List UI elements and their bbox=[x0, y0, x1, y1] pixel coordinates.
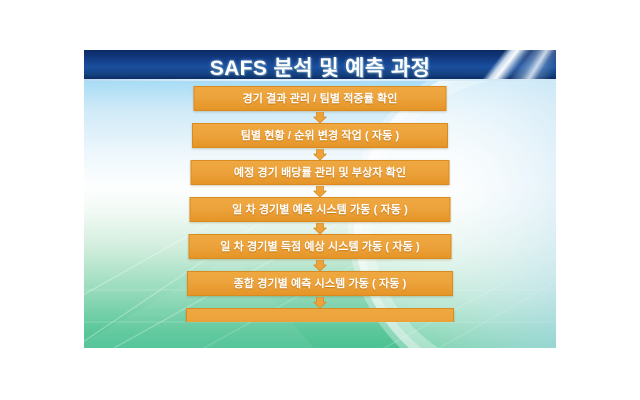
flow-step-2: 팀별 현황 / 순위 변경 작업 ( 자동 ) bbox=[84, 123, 556, 160]
flow-box[interactable]: 경기 결과 관리 / 팀별 적중률 확인 bbox=[194, 86, 447, 111]
flow-step-7 bbox=[84, 308, 556, 322]
presentation-slide: SAFS 분석 및 예측 과정 경기 결과 관리 / 팀별 적중률 확인 팀별 … bbox=[84, 50, 556, 348]
down-arrow-icon bbox=[314, 186, 327, 197]
flow-box[interactable]: 예정 경기 배당률 관리 및 부상자 확인 bbox=[191, 160, 450, 185]
flow-step-1: 경기 결과 관리 / 팀별 적중률 확인 bbox=[84, 86, 556, 123]
flow-box[interactable]: 팀별 현황 / 순위 변경 작업 ( 자동 ) bbox=[192, 123, 448, 148]
flow-box[interactable]: 종합 경기별 예측 시스템 가동 ( 자동 ) bbox=[187, 271, 453, 296]
down-arrow-icon bbox=[314, 297, 327, 308]
down-arrow-icon bbox=[314, 260, 327, 271]
flow-box[interactable]: 일 차 경기별 예측 시스템 가동 ( 자동 ) bbox=[190, 197, 451, 222]
slide-title: SAFS 분석 및 예측 과정 bbox=[84, 52, 556, 82]
flow-step-5: 일 차 경기별 득점 예상 시스템 가동 ( 자동 ) bbox=[84, 234, 556, 271]
flow-step-6: 종합 경기별 예측 시스템 가동 ( 자동 ) bbox=[84, 271, 556, 308]
flow-diagram: 경기 결과 관리 / 팀별 적중률 확인 팀별 현황 / 순위 변경 작업 ( … bbox=[84, 86, 556, 322]
down-arrow-icon bbox=[314, 149, 327, 160]
down-arrow-icon bbox=[314, 223, 327, 234]
down-arrow-icon bbox=[314, 112, 327, 123]
flow-step-3: 예정 경기 배당률 관리 및 부상자 확인 bbox=[84, 160, 556, 197]
flow-box[interactable] bbox=[186, 308, 454, 322]
flow-box[interactable]: 일 차 경기별 득점 예상 시스템 가동 ( 자동 ) bbox=[189, 234, 452, 259]
flow-step-4: 일 차 경기별 예측 시스템 가동 ( 자동 ) bbox=[84, 197, 556, 234]
